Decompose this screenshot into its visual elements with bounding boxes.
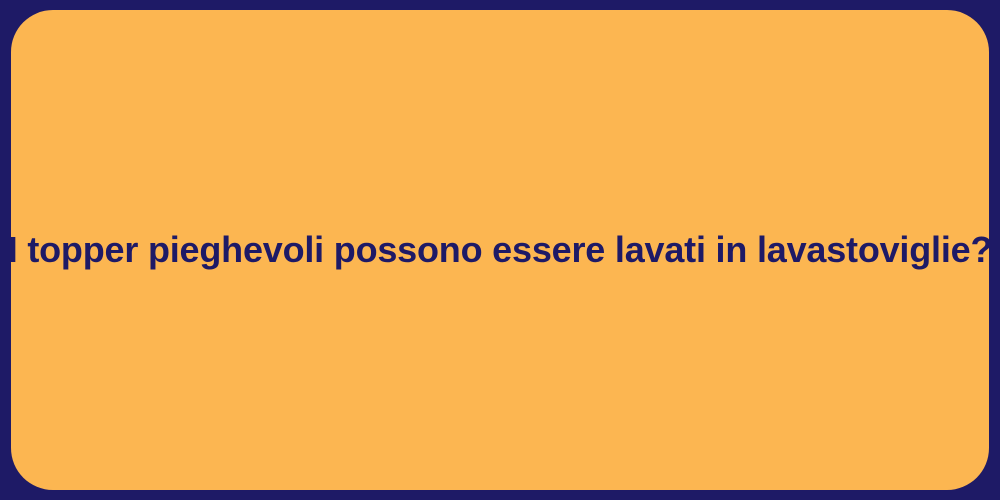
question-card: I topper pieghevoli possono essere lavat… [11,10,989,490]
card-body: I topper pieghevoli possono essere lavat… [11,228,989,272]
page-background: I topper pieghevoli possono essere lavat… [0,0,1000,500]
question-heading: I topper pieghevoli possono essere lavat… [8,228,993,272]
